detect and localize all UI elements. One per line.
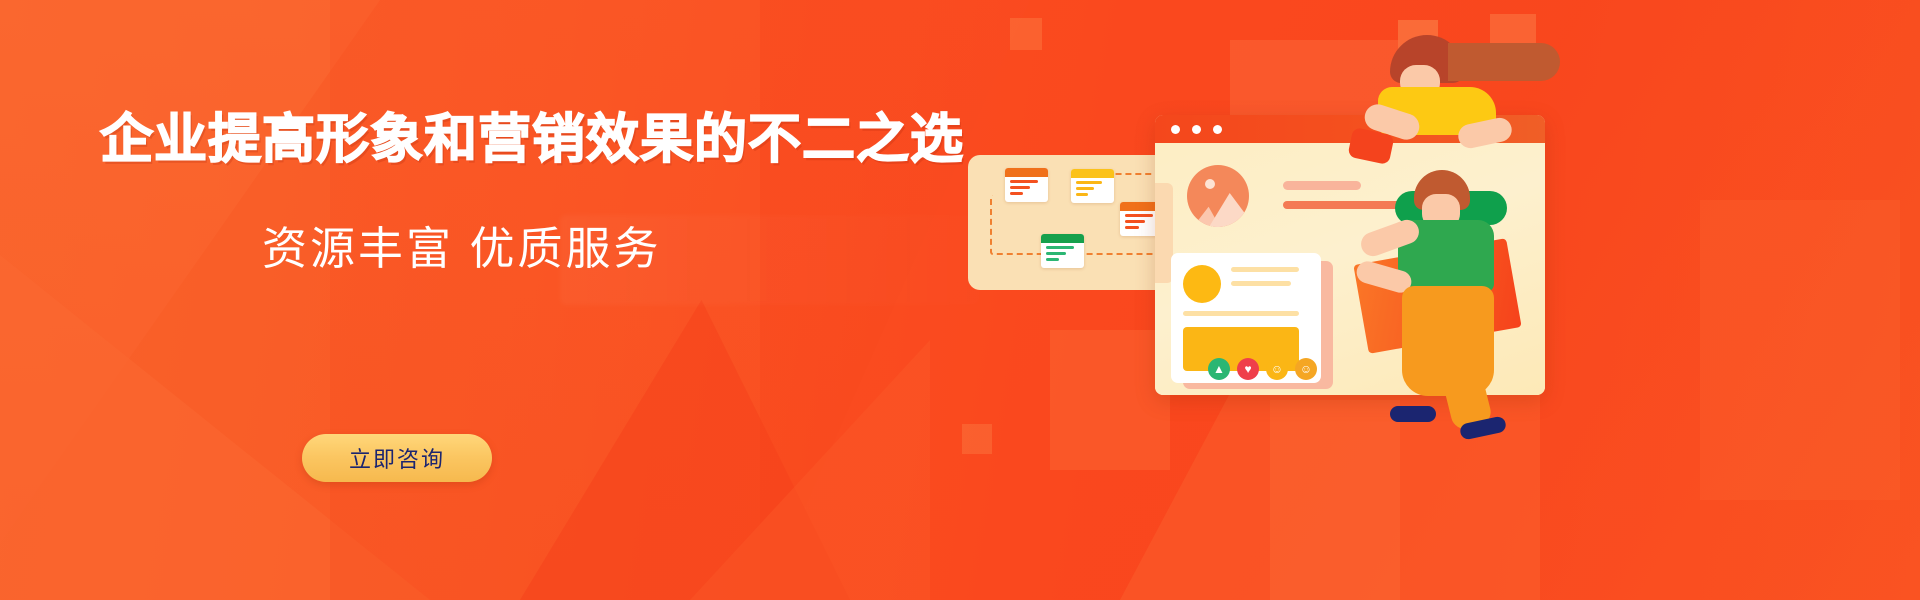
- flow-card-1-line: [1010, 192, 1023, 195]
- window-dot-icon: [1171, 125, 1180, 134]
- reaction-bar: ▲ ♥ ☺ ☺: [1208, 358, 1317, 380]
- flow-card-1-line: [1010, 180, 1038, 183]
- flow-card-2-line: [1076, 187, 1094, 190]
- flow-card-4-line: [1046, 246, 1074, 249]
- window-dot-icon: [1192, 125, 1201, 134]
- like-icon[interactable]: ▲: [1208, 358, 1230, 380]
- subheadline: 资源丰富 优质服务: [262, 226, 662, 271]
- flow-card-3-line: [1125, 226, 1139, 229]
- flow-card-1: [1005, 168, 1048, 202]
- flow-card-2-line: [1076, 193, 1088, 196]
- flow-card-1-header: [1005, 168, 1048, 177]
- headline: 企业提高形象和营销效果的不二之选: [100, 113, 964, 166]
- flow-card-2-header: [1071, 169, 1114, 178]
- hero-illustration: ▲ ♥ ☺ ☺: [940, 0, 1920, 600]
- image-thumbnail-icon: [1187, 165, 1249, 227]
- heart-icon[interactable]: ♥: [1237, 358, 1259, 380]
- flow-card-4-header: [1041, 234, 1084, 243]
- promo-banner: 企业提高形象和营销效果的不二之选 资源丰富 优质服务 立即咨询: [0, 0, 1920, 600]
- sun-icon: [1205, 179, 1215, 189]
- flow-card-2: [1071, 169, 1114, 203]
- flow-card-2-line: [1076, 181, 1102, 184]
- card-text-line: [1183, 311, 1299, 316]
- flow-card-4: [1041, 234, 1084, 268]
- copy-block: 企业提高形象和营销效果的不二之选 资源丰富 优质服务 立即咨询: [0, 0, 960, 600]
- person-carrying-card: [1350, 170, 1600, 460]
- laugh-icon[interactable]: ☺: [1266, 358, 1288, 380]
- flow-card-1-line: [1010, 186, 1030, 189]
- mountain-shape: [1209, 193, 1249, 227]
- card-text-line: [1231, 267, 1299, 272]
- avatar: [1183, 265, 1221, 303]
- flow-card-4-line: [1046, 258, 1059, 261]
- flow-card-4-line: [1046, 252, 1066, 255]
- window-dot-icon: [1213, 125, 1222, 134]
- smile-icon[interactable]: ☺: [1295, 358, 1317, 380]
- flow-card-3-line: [1125, 220, 1145, 223]
- card-text-line: [1231, 281, 1291, 286]
- flow-card-3-line: [1125, 214, 1153, 217]
- hair-flow-shape: [1448, 43, 1560, 81]
- consult-now-button[interactable]: 立即咨询: [302, 434, 492, 482]
- shoe-shape: [1390, 406, 1436, 422]
